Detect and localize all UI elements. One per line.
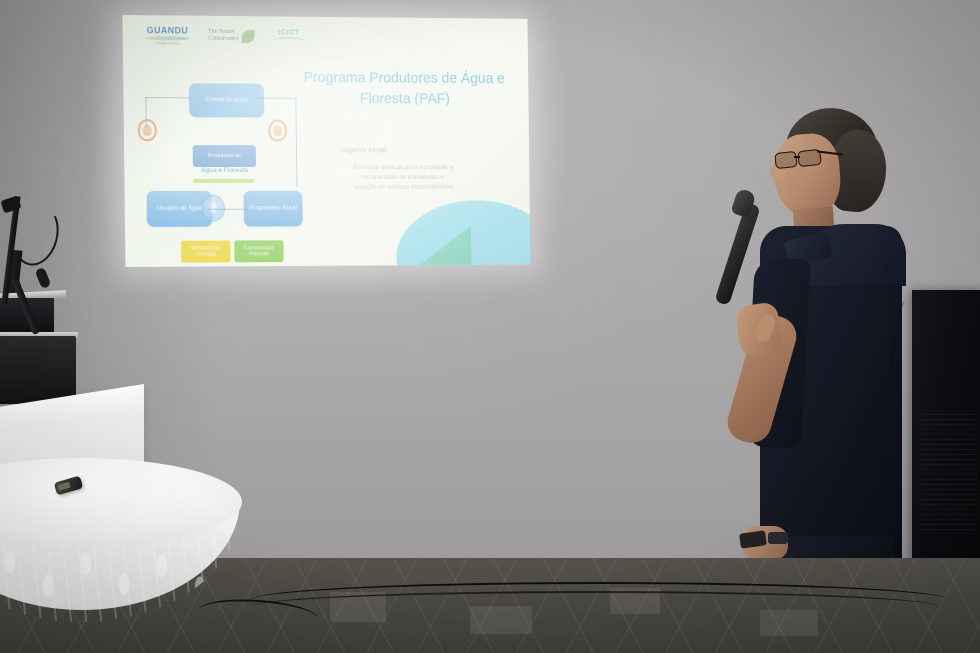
objective-line-3: geração de serviços ecossistêmicos — [333, 183, 473, 193]
leaf-icon — [242, 30, 255, 43]
eyeglasses-bridge — [794, 156, 800, 158]
tag-conservacao-florestal: Conservação Florestal — [234, 240, 283, 262]
wristwatch — [768, 532, 788, 544]
tnc-logo-text: The Nature Conservancy — [208, 29, 239, 43]
node-comite-guandu: Comitê Guandu — [189, 83, 264, 117]
slide-logo-row: GUANDU Comitê Guandu The Nature Conserva… — [145, 25, 306, 46]
nature-conservancy-logo: The Nature Conservancy — [208, 29, 255, 43]
round-table-foreground — [0, 458, 242, 653]
slide-title: Programa Produtores de Água e Floresta (… — [289, 68, 519, 110]
floor-cable-secondary — [250, 591, 940, 623]
speaker-grill — [920, 410, 978, 530]
slide-content: GUANDU Comitê Guandu The Nature Conserva… — [122, 15, 530, 267]
slide-title-line-2: Floresta (PAF) — [289, 89, 519, 111]
node-paf-badge: Produtores de — [193, 145, 256, 167]
guandu-logo-subtext: Comitê Guandu — [156, 41, 180, 45]
arrow-right-vertical — [295, 98, 297, 187]
objective-heading: Objetivo inicial: — [341, 145, 388, 154]
third-partner-logo-text: ICICT — [278, 27, 300, 36]
tablecloth-lace-pattern — [0, 536, 240, 653]
presentation-room-photo: GUANDU Comitê Guandu The Nature Conserva… — [0, 0, 980, 653]
wave-icon — [272, 37, 305, 45]
slide-diagram: Comitê Guandu Usuário de Água Proprietár… — [137, 83, 297, 258]
money-bag-icon-right — [268, 119, 287, 141]
eyeglasses-lens-left — [774, 151, 798, 169]
node-proprietario-rural: Proprietário Rural — [244, 191, 303, 227]
arrow-right-from-comite — [258, 98, 297, 99]
guandu-logo-text: GUANDU — [147, 25, 189, 35]
paf-center-label: Água e Floresta — [186, 167, 263, 174]
arrow-left-into-comite — [145, 97, 191, 98]
av-equipment-stack — [0, 336, 76, 404]
paf-underline-bar — [193, 179, 254, 183]
objective-line-2: recuperação de mananciais e — [333, 173, 473, 183]
phone-screen — [57, 482, 70, 491]
arrow-drop-to-usuario — [208, 209, 226, 210]
blue-arc-decoration — [396, 200, 531, 267]
tnc-line-2: Conservancy — [208, 36, 239, 43]
guandu-logo-swoosh — [145, 36, 191, 40]
arrow-prop-to-drop — [226, 209, 248, 210]
tag-restauracao-florestal: Restauração Florestal — [181, 241, 231, 263]
objective-line-1: Fomentar práticas para a proteção e — [333, 163, 473, 173]
money-bag-icon-left — [138, 119, 157, 141]
guandu-logo: GUANDU Comitê Guandu — [145, 25, 191, 45]
objective-text: Fomentar práticas para a proteção e recu… — [333, 163, 473, 192]
slide-title-line-1: Programa Produtores de Água e — [289, 68, 519, 90]
arrow-left-vertical — [145, 97, 147, 127]
third-partner-logo: ICICT — [272, 27, 305, 45]
projected-slide: GUANDU Comitê Guandu The Nature Conserva… — [122, 15, 530, 267]
